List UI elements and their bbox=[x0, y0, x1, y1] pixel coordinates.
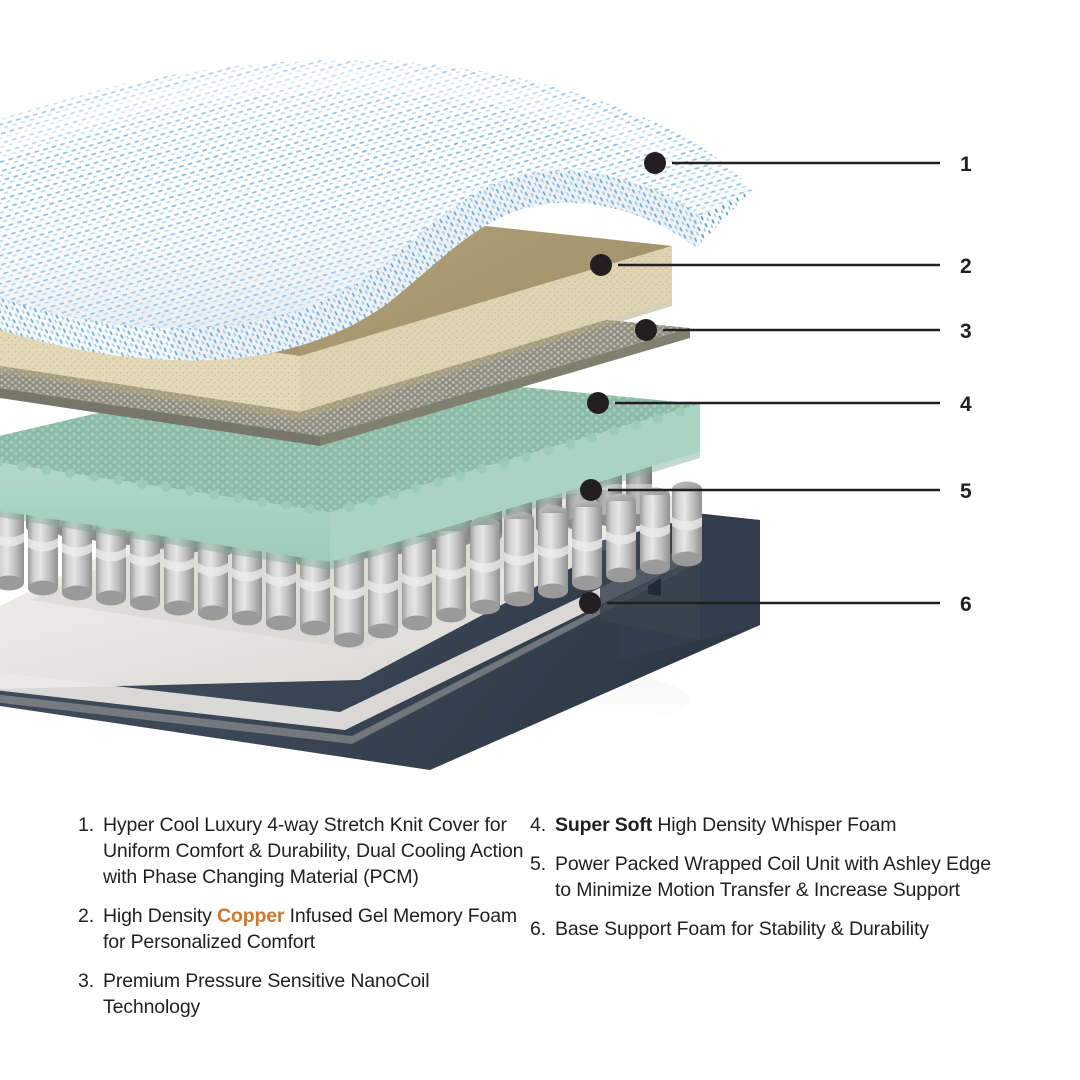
legend-number-6: 6. bbox=[530, 916, 555, 942]
legend-text-6: Base Support Foam for Stability & Durabi… bbox=[555, 916, 1000, 942]
legend-item-2: 2. High Density Copper Infused Gel Memor… bbox=[78, 903, 528, 955]
legend-item-3: 3. Premium Pressure Sensitive NanoCoil T… bbox=[78, 968, 528, 1020]
exploded-mattress-diagram: 1 2 3 4 5 6 bbox=[0, 0, 1080, 800]
legend-number-3: 3. bbox=[78, 968, 103, 994]
legend-number-2: 2. bbox=[78, 903, 103, 929]
legend-item-6: 6. Base Support Foam for Stability & Dur… bbox=[530, 916, 1000, 942]
legend-item-5: 5. Power Packed Wrapped Coil Unit with A… bbox=[530, 851, 1000, 903]
callout-number-3: 3 bbox=[960, 320, 972, 343]
legend-number-4: 4. bbox=[530, 812, 555, 838]
legend-text-4: Super Soft High Density Whisper Foam bbox=[555, 812, 1000, 838]
callout-number-2: 2 bbox=[960, 255, 972, 278]
legend: 1. Hyper Cool Luxury 4-way Stretch Knit … bbox=[0, 812, 1080, 1072]
callout-number-1: 1 bbox=[960, 153, 972, 176]
callout-number-5: 5 bbox=[960, 480, 972, 503]
callout-number-6: 6 bbox=[960, 593, 972, 616]
legend-text-3: Premium Pressure Sensitive NanoCoil Tech… bbox=[103, 968, 528, 1020]
callout-number-4: 4 bbox=[960, 393, 972, 416]
legend-item-1: 1. Hyper Cool Luxury 4-way Stretch Knit … bbox=[78, 812, 528, 890]
mattress-layers-infographic: 1 2 3 4 5 6 1. Hyper Cool Luxury 4-way S… bbox=[0, 0, 1080, 1080]
legend-column-left: 1. Hyper Cool Luxury 4-way Stretch Knit … bbox=[78, 812, 528, 1033]
legend-text-2: High Density Copper Infused Gel Memory F… bbox=[103, 903, 528, 955]
callout-numbers: 1 2 3 4 5 6 bbox=[960, 153, 972, 616]
legend-item-4: 4. Super Soft High Density Whisper Foam bbox=[530, 812, 1000, 838]
legend-number-1: 1. bbox=[78, 812, 103, 838]
legend-number-5: 5. bbox=[530, 851, 555, 877]
legend-column-right: 4. Super Soft High Density Whisper Foam … bbox=[530, 812, 1000, 955]
legend-text-5: Power Packed Wrapped Coil Unit with Ashl… bbox=[555, 851, 1000, 903]
legend-text-1: Hyper Cool Luxury 4-way Stretch Knit Cov… bbox=[103, 812, 528, 890]
